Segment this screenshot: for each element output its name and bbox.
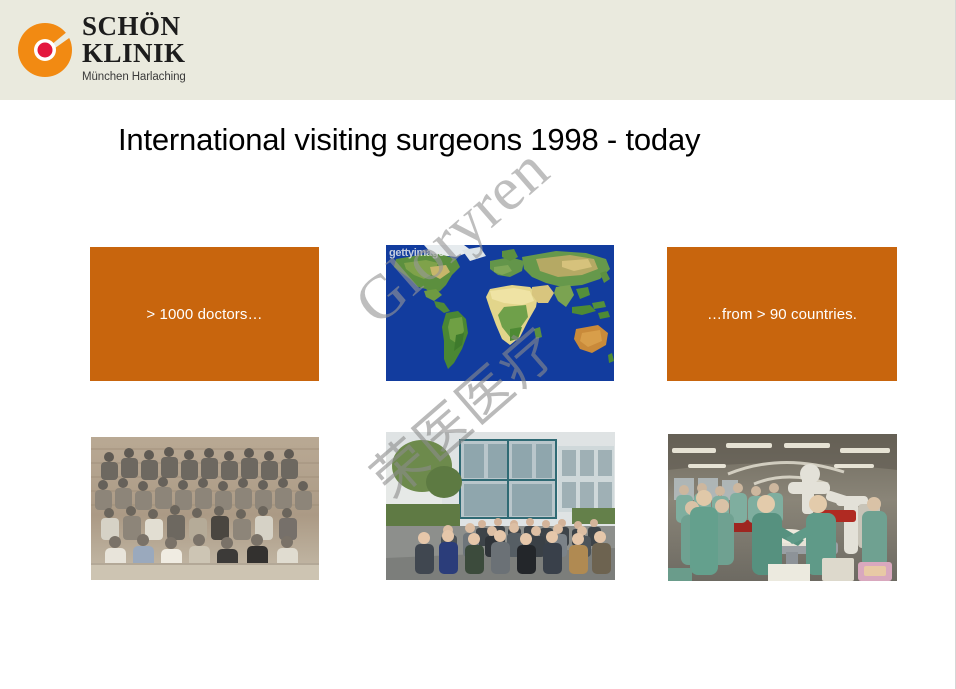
doctors-count-label: > 1000 doctors… xyxy=(146,306,262,323)
schoen-klinik-logo-mark-icon xyxy=(14,19,76,81)
group-photo-outdoor-building xyxy=(386,432,615,580)
presentation-slide: SCHÖN KLINIK München Harlaching Internat… xyxy=(0,0,956,689)
world-map-image: gettyimages xyxy=(386,245,614,381)
logo-line-1: SCHÖN xyxy=(82,13,212,40)
operating-room-photo xyxy=(668,434,897,581)
schoen-klinik-logo: SCHÖN KLINIK München Harlaching xyxy=(14,13,214,89)
countries-count-box: …from > 90 countries. xyxy=(667,247,897,381)
countries-count-label: …from > 90 countries. xyxy=(707,306,857,323)
slide-title: International visiting surgeons 1998 - t… xyxy=(118,122,700,158)
logo-subtitle: München Harlaching xyxy=(82,71,212,83)
gettyimages-watermark: gettyimages xyxy=(389,247,450,259)
slide-header-band: SCHÖN KLINIK München Harlaching xyxy=(0,0,956,100)
logo-wordmark: SCHÖN KLINIK München Harlaching xyxy=(82,13,212,83)
group-photo-auditorium xyxy=(91,437,319,580)
doctors-count-box: > 1000 doctors… xyxy=(90,247,319,381)
logo-line-2: KLINIK xyxy=(82,40,212,67)
